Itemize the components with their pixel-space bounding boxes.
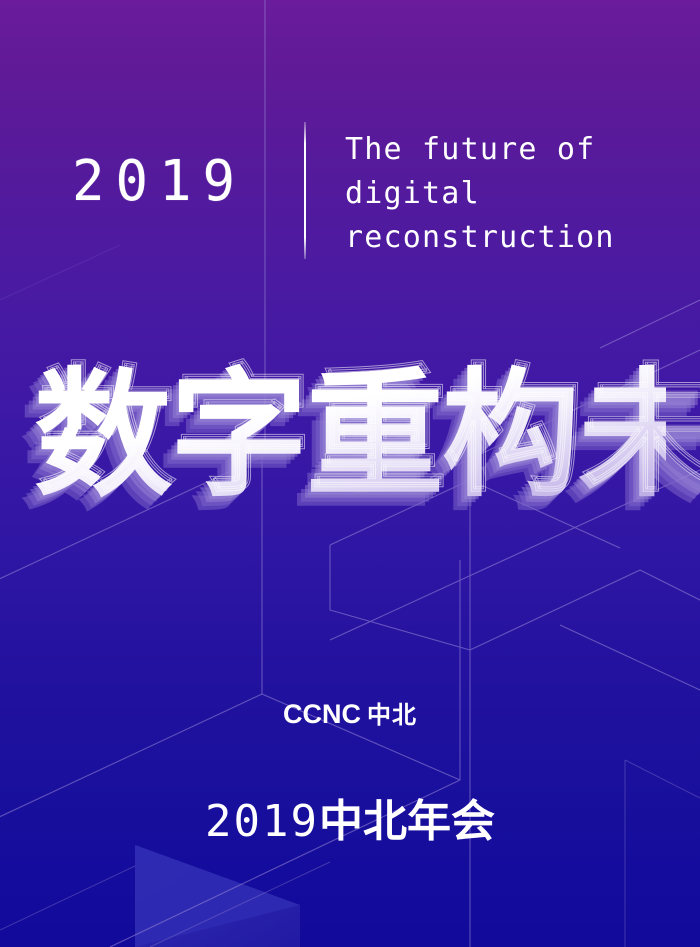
- header-tagline: The future of digital reconstruction: [345, 128, 675, 260]
- deco-triangle-bottom-left: [135, 845, 300, 947]
- header-divider: [304, 122, 306, 259]
- logo-mark: CCNC: [283, 699, 361, 729]
- main-title: 数字重构未来 数字重构未来 数字重构未来 数字重构未来 数字重构未来 数字重构未…: [34, 336, 666, 536]
- tagline-line-1: The future of: [345, 128, 675, 172]
- brand-logo: CCNC中北: [0, 698, 700, 732]
- header-block: 2019 The future of digital reconstructio…: [0, 0, 700, 290]
- tagline-line-3: reconstruction: [345, 216, 675, 260]
- event-title: 2019中北年会: [0, 796, 700, 848]
- main-title-block: 数字重构未来 数字重构未来 数字重构未来 数字重构未来 数字重构未来 数字重构未…: [0, 336, 700, 546]
- event-title-year: 2019: [205, 796, 319, 847]
- deco-line-network-secondary: [0, 760, 700, 947]
- header-year: 2019: [72, 152, 246, 210]
- deco-triangle-bottom-left-2: [135, 845, 300, 947]
- event-title-cn: 中北年会: [319, 796, 495, 847]
- main-title-highlight-outline: 数字重构未来: [38, 331, 670, 531]
- tagline-line-2: digital: [345, 172, 675, 216]
- logo-cn-name: 中北: [367, 702, 417, 729]
- poster-canvas: 2019 The future of digital reconstructio…: [0, 0, 700, 947]
